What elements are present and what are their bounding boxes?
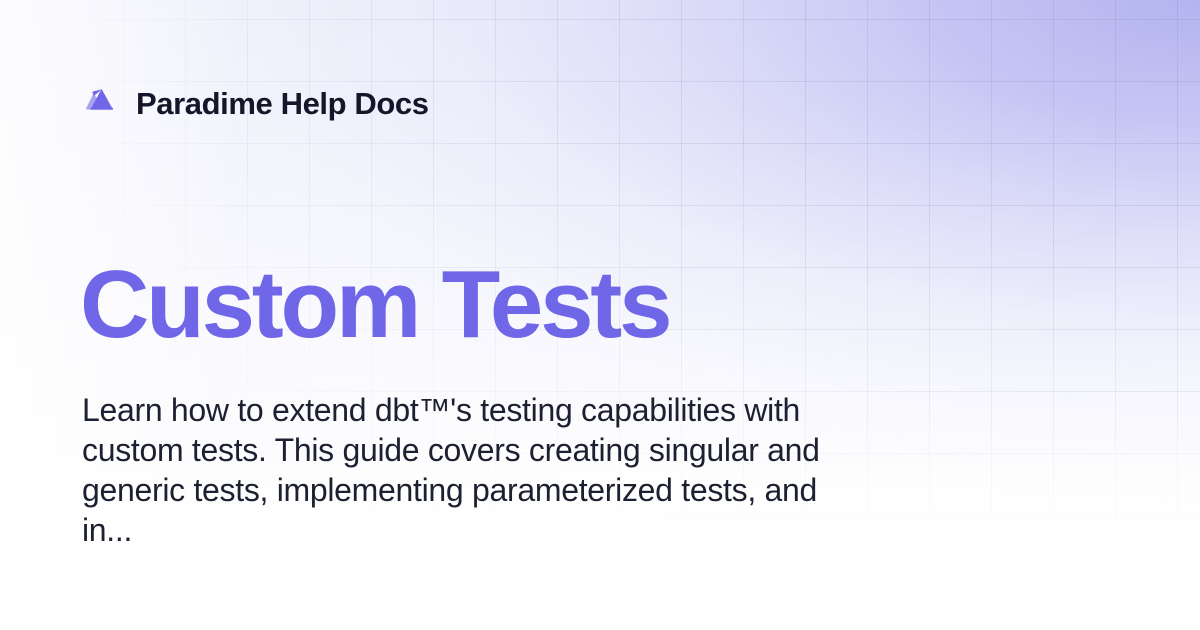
card-content: Paradime Help Docs Custom Tests Learn ho… (0, 0, 1200, 630)
page-description: Learn how to extend dbt™'s testing capab… (82, 390, 872, 550)
brand-lockup: Paradime Help Docs (82, 84, 429, 122)
page-title: Custom Tests (80, 256, 669, 354)
og-card: Paradime Help Docs Custom Tests Learn ho… (0, 0, 1200, 630)
paradime-mountain-logo-icon (82, 84, 120, 122)
brand-name: Paradime Help Docs (136, 88, 429, 119)
